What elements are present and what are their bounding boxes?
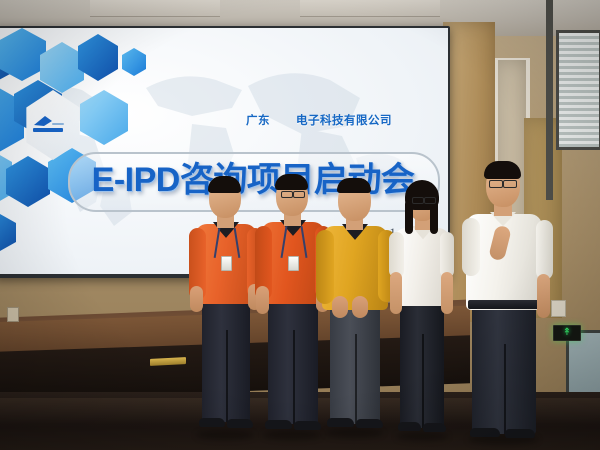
belt xyxy=(468,300,540,309)
slide-subtitle-region: 广东 xyxy=(246,115,270,127)
running-man-icon: ↟ xyxy=(563,328,571,338)
slide-subtitle: 广东电子科技有限公司 xyxy=(246,112,436,128)
photo-scene: ↟ xyxy=(0,0,600,450)
slide-title: E-IPD咨询项目启动会 xyxy=(74,155,432,205)
exit-sign: ↟ xyxy=(553,325,581,341)
glasses xyxy=(424,197,436,204)
glasses xyxy=(489,180,503,188)
wall-outlet-lower xyxy=(7,307,19,322)
id-badge xyxy=(288,256,299,271)
glasses xyxy=(503,180,517,188)
glasses xyxy=(293,191,305,198)
glasses xyxy=(412,197,424,204)
id-badge xyxy=(221,256,232,271)
ceiling-panel xyxy=(90,0,220,17)
wall-outlet xyxy=(551,300,566,317)
hexagon-logo-icon xyxy=(32,114,70,136)
glasses xyxy=(281,191,293,198)
window-with-blinds xyxy=(556,30,600,150)
slide-subtitle-company: 电子科技有限公司 xyxy=(296,115,392,127)
hexagon-cluster xyxy=(0,28,166,258)
window-blinds xyxy=(559,33,599,147)
window-frame xyxy=(546,0,553,200)
ceiling-panel xyxy=(300,0,440,17)
